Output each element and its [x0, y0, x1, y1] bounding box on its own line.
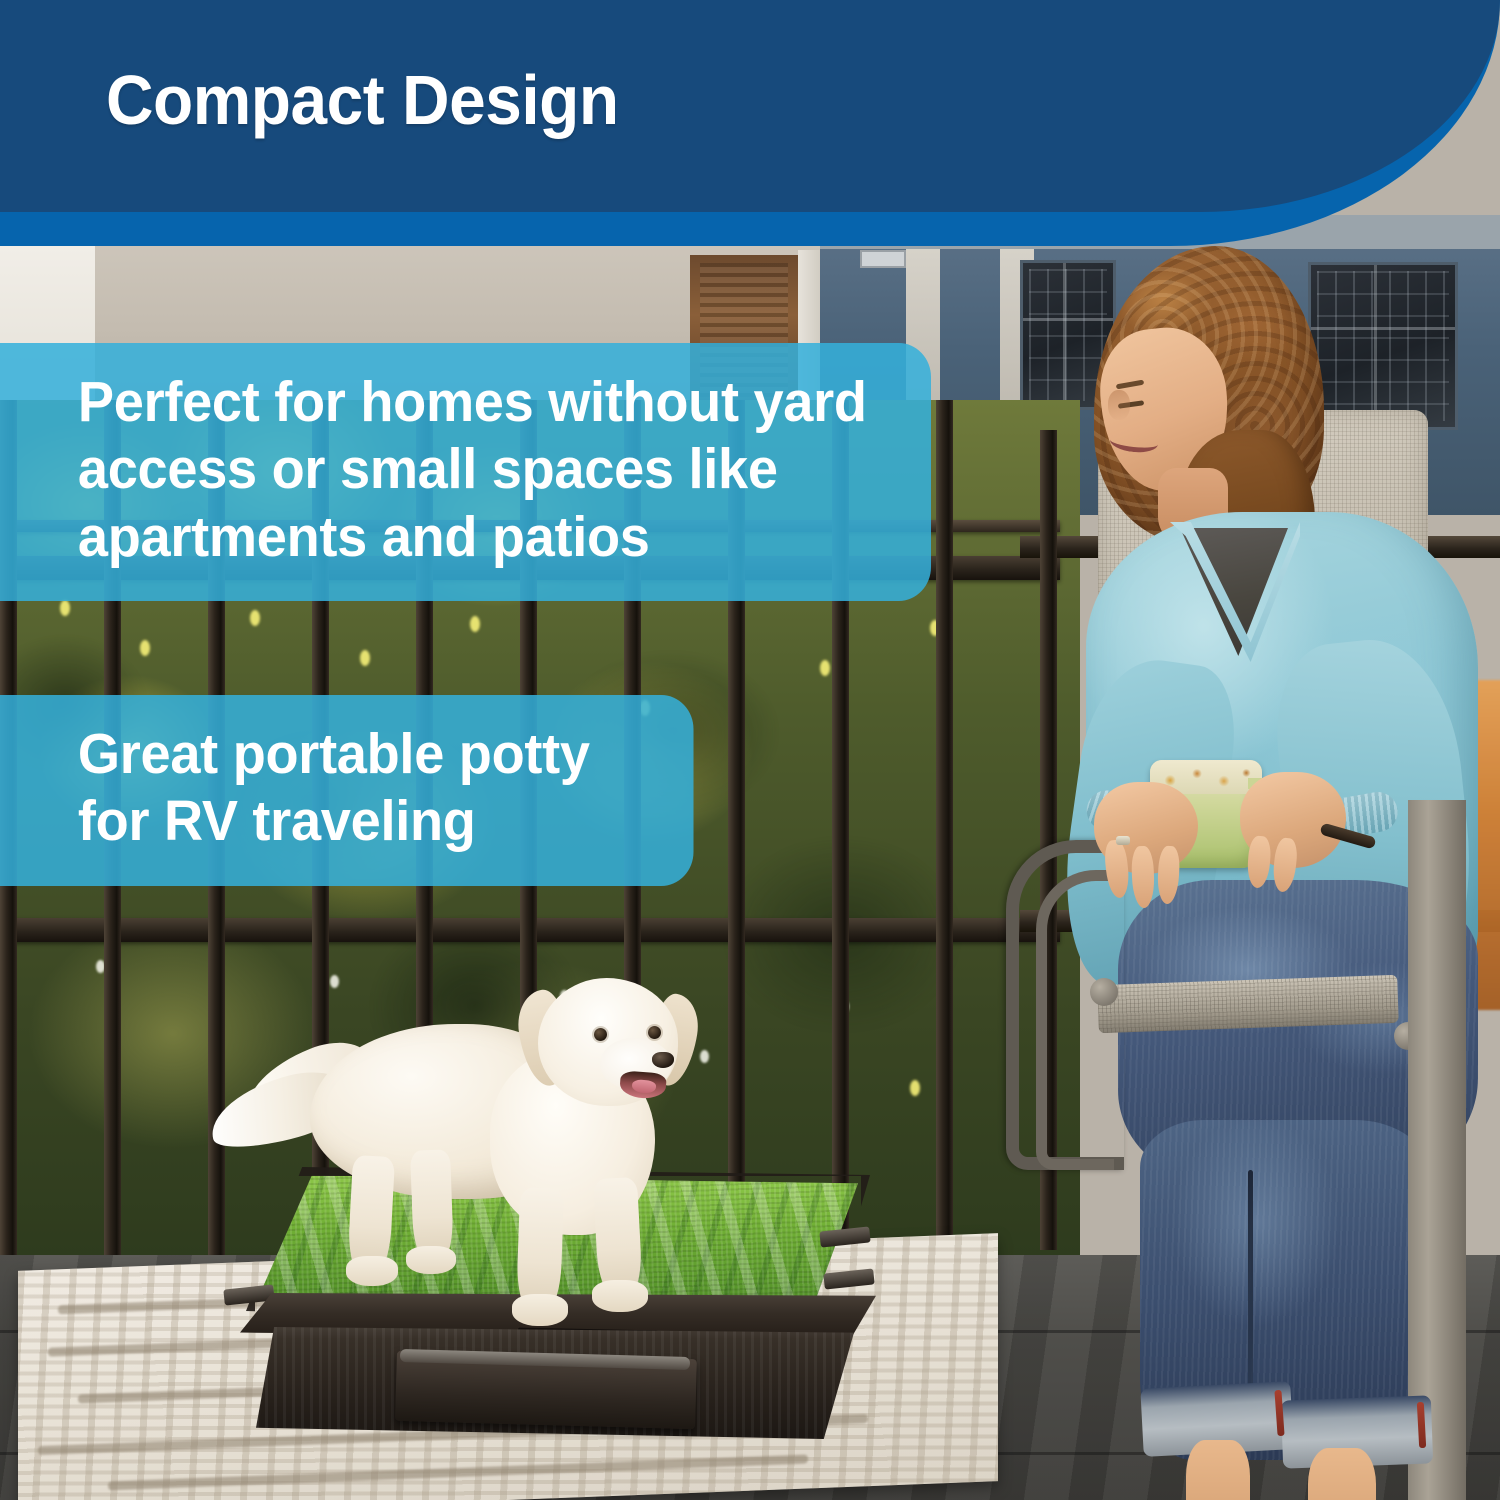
wall-vent: [860, 250, 906, 268]
fence-picket: [936, 400, 953, 1300]
dog-paw: [346, 1256, 398, 1286]
ankle: [1308, 1448, 1376, 1500]
dog-eye: [648, 1026, 661, 1039]
leaf: [360, 650, 370, 666]
feature-callout-2: Great portable potty for RV traveling: [0, 695, 694, 886]
dog-eye: [594, 1028, 607, 1041]
leaf: [250, 610, 260, 626]
leaf: [470, 616, 480, 632]
jeans-seam: [1248, 1170, 1253, 1400]
feature-callout-1: Perfect for homes without yard access or…: [0, 343, 931, 601]
leaf: [60, 600, 70, 616]
finger-ring: [1116, 836, 1130, 845]
leaf: [910, 1080, 920, 1096]
dog-paw: [512, 1294, 568, 1326]
product-marketing-image: Compact Design Perfect for homes without…: [0, 0, 1500, 1500]
dog-nose: [652, 1052, 674, 1068]
chair-bolt: [1090, 978, 1118, 1006]
dog-paw: [592, 1280, 648, 1312]
dog-paw: [406, 1246, 456, 1274]
dog: [200, 960, 760, 1310]
leaf: [820, 660, 830, 676]
seated-woman: [990, 240, 1500, 1500]
ankle: [1186, 1440, 1250, 1500]
nose: [1108, 390, 1130, 420]
leaf: [140, 640, 150, 656]
